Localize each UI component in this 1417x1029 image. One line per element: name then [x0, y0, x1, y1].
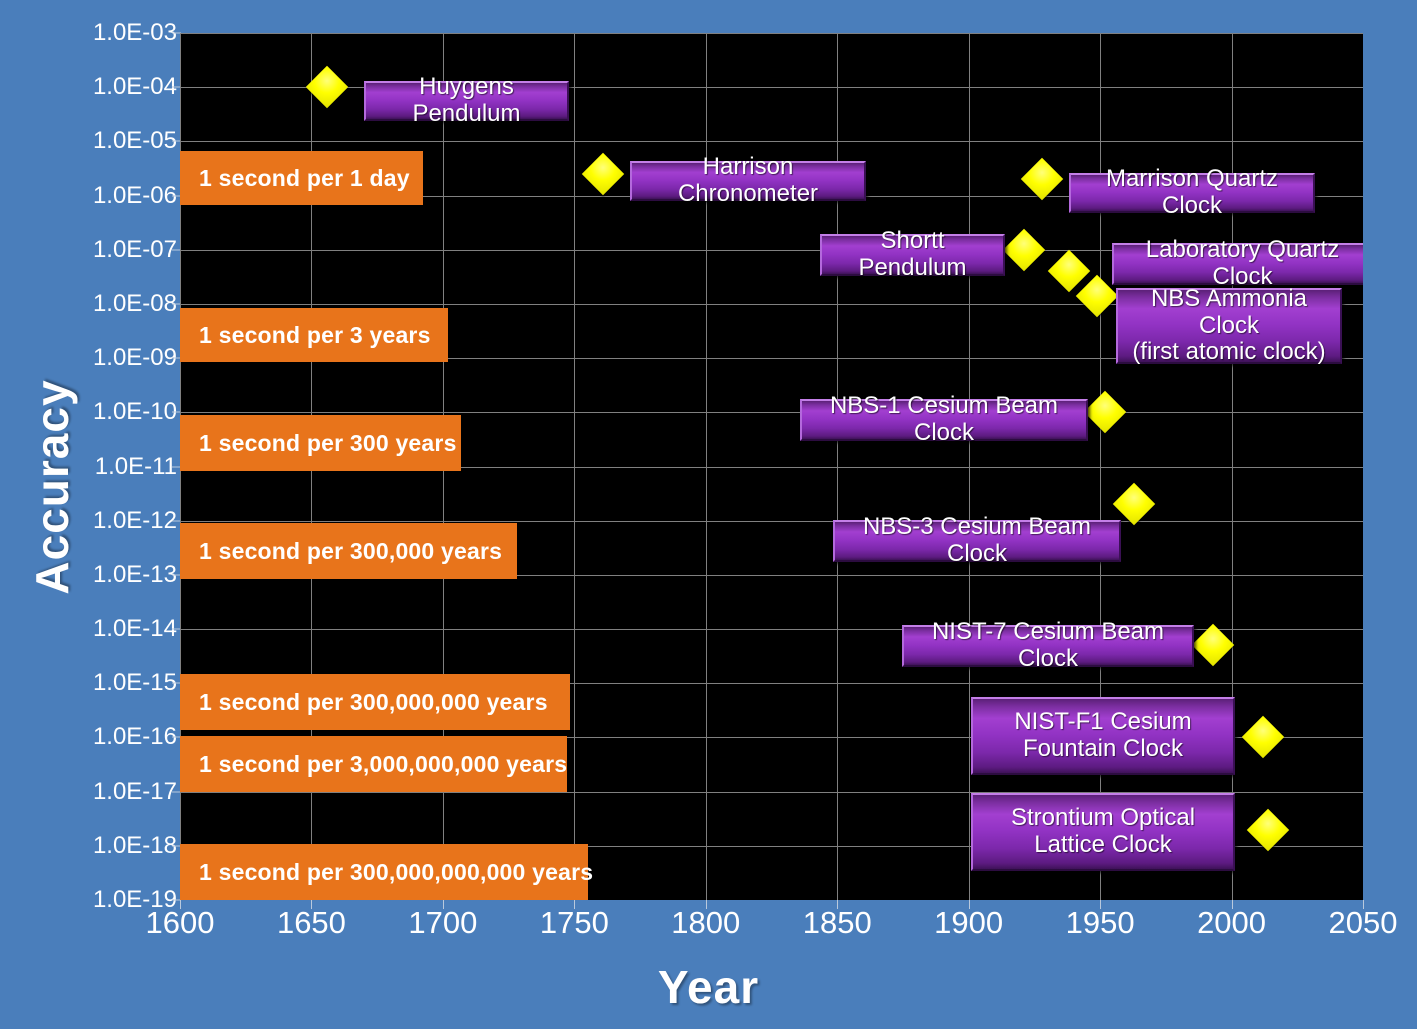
accuracy-band-label: 1 second per 300,000 years: [180, 523, 517, 579]
x-axis-tick-label: 1700: [383, 905, 503, 941]
data-point-callout: Marrison Quartz Clock: [1069, 173, 1315, 213]
callout-text: NBS-1 Cesium Beam Clock: [812, 393, 1076, 447]
x-axis-tick-mark: [311, 900, 312, 909]
x-axis-tick-label: 1850: [777, 905, 897, 941]
accuracy-band-label: 1 second per 3,000,000,000 years: [180, 736, 567, 792]
y-axis-tick-label: 1.0E-07: [27, 236, 177, 264]
y-axis-tick-label: 1.0E-10: [27, 398, 177, 426]
y-axis-tick-label: 1.0E-18: [27, 832, 177, 860]
y-axis-tick-label: 1.0E-15: [27, 669, 177, 697]
callout-text: Laboratory Quartz Clock: [1124, 237, 1361, 291]
data-point-marker: [1247, 808, 1289, 850]
y-axis-tick-label: 1.0E-14: [27, 615, 177, 643]
accuracy-band-label: 1 second per 300,000,000 years: [180, 674, 570, 730]
accuracy-band-label: 1 second per 300 years: [180, 415, 461, 471]
data-point-callout: Laboratory Quartz Clock: [1112, 243, 1363, 285]
y-axis-tick-label: 1.0E-09: [27, 344, 177, 372]
gridline-horizontal: [180, 33, 1363, 34]
x-axis-tick-mark: [969, 900, 970, 909]
callout-text: Harrison Chronometer: [642, 154, 854, 208]
callout-text: NIST-F1 Cesium Fountain Clock: [983, 709, 1223, 763]
x-axis-tick-mark: [443, 900, 444, 909]
x-axis-tick-label: 1650: [251, 905, 371, 941]
x-axis-tick-mark: [180, 900, 181, 909]
data-point-callout: Shortt Pendulum: [820, 234, 1005, 276]
x-axis-tick-label: 1800: [646, 905, 766, 941]
gridline-horizontal: [180, 141, 1363, 142]
x-axis-tick-label: 2050: [1303, 905, 1417, 941]
y-axis-tick-label: 1.0E-04: [27, 73, 177, 101]
callout-text: Huygens Pendulum: [376, 74, 557, 128]
data-point-marker: [306, 66, 348, 108]
x-axis-tick-label: 2000: [1172, 905, 1292, 941]
accuracy-band-label: 1 second per 1 day: [180, 151, 423, 205]
callout-text: Marrison Quartz Clock: [1081, 166, 1303, 220]
y-axis-tick-label: 1.0E-12: [27, 507, 177, 535]
x-axis-tick-mark: [706, 900, 707, 909]
callout-text: NBS-3 Cesium Beam Clock: [845, 514, 1109, 568]
x-axis-tick-label: 1600: [120, 905, 240, 941]
y-axis-tick-label: 1.0E-03: [27, 19, 177, 47]
data-point-callout: Strontium Optical Lattice Clock: [971, 793, 1235, 871]
x-axis-tick-label: 1950: [1040, 905, 1160, 941]
x-axis-tick-mark: [1363, 900, 1364, 909]
plot-area: 1 second per 1 day1 second per 3 years1 …: [180, 33, 1363, 900]
gridline-vertical: [574, 33, 575, 900]
data-point-callout: NBS-3 Cesium Beam Clock: [833, 520, 1121, 562]
gridline-horizontal: [180, 521, 1363, 522]
gridline-horizontal: [180, 87, 1363, 88]
data-point-callout: NIST-7 Cesium Beam Clock: [902, 625, 1194, 667]
data-point-callout: Harrison Chronometer: [630, 161, 866, 201]
callout-text: Strontium Optical Lattice Clock: [983, 805, 1223, 859]
data-point-marker: [1003, 229, 1045, 271]
x-axis-tick-mark: [574, 900, 575, 909]
y-axis-tick-label: 1.0E-16: [27, 723, 177, 751]
y-axis-tick-label: 1.0E-13: [27, 561, 177, 589]
callout-text: NIST-7 Cesium Beam Clock: [914, 619, 1182, 673]
y-axis-tick-label: 1.0E-06: [27, 182, 177, 210]
x-axis-tick-label: 1900: [909, 905, 1029, 941]
y-axis-title: Accuracy: [25, 327, 79, 647]
y-axis-tick-label: 1.0E-17: [27, 778, 177, 806]
data-point-marker: [1047, 250, 1089, 292]
data-point-marker: [582, 153, 624, 195]
y-axis-tick-label: 1.0E-05: [27, 127, 177, 155]
x-axis-tick-label: 1750: [514, 905, 634, 941]
data-point-callout: NBS Ammonia Clock(first atomic clock): [1116, 288, 1342, 364]
y-axis-tick-label: 1.0E-08: [27, 290, 177, 318]
accuracy-band-label: 1 second per 3 years: [180, 308, 448, 362]
x-axis-tick-mark: [1100, 900, 1101, 909]
data-point-marker: [1021, 158, 1063, 200]
accuracy-band-label: 1 second per 300,000,000,000 years: [180, 844, 588, 900]
data-point-marker: [1192, 624, 1234, 666]
x-axis-tick-mark: [837, 900, 838, 909]
data-point-marker: [1242, 716, 1284, 758]
gridline-horizontal: [180, 412, 1363, 413]
accuracy-vs-year-chart: Accuracy Year 1.0E-031.0E-041.0E-051.0E-…: [0, 0, 1417, 1029]
data-point-marker: [1084, 391, 1126, 433]
x-axis-tick-mark: [1232, 900, 1233, 909]
gridline-vertical: [969, 33, 970, 900]
data-point-callout: Huygens Pendulum: [364, 81, 569, 121]
y-axis-tick-label: 1.0E-11: [27, 453, 177, 481]
callout-text: Shortt Pendulum: [832, 228, 993, 282]
callout-text: NBS Ammonia Clock(first atomic clock): [1128, 286, 1330, 367]
data-point-callout: NBS-1 Cesium Beam Clock: [800, 399, 1088, 441]
x-axis-title: Year: [0, 960, 1417, 1014]
data-point-callout: NIST-F1 Cesium Fountain Clock: [971, 697, 1235, 775]
